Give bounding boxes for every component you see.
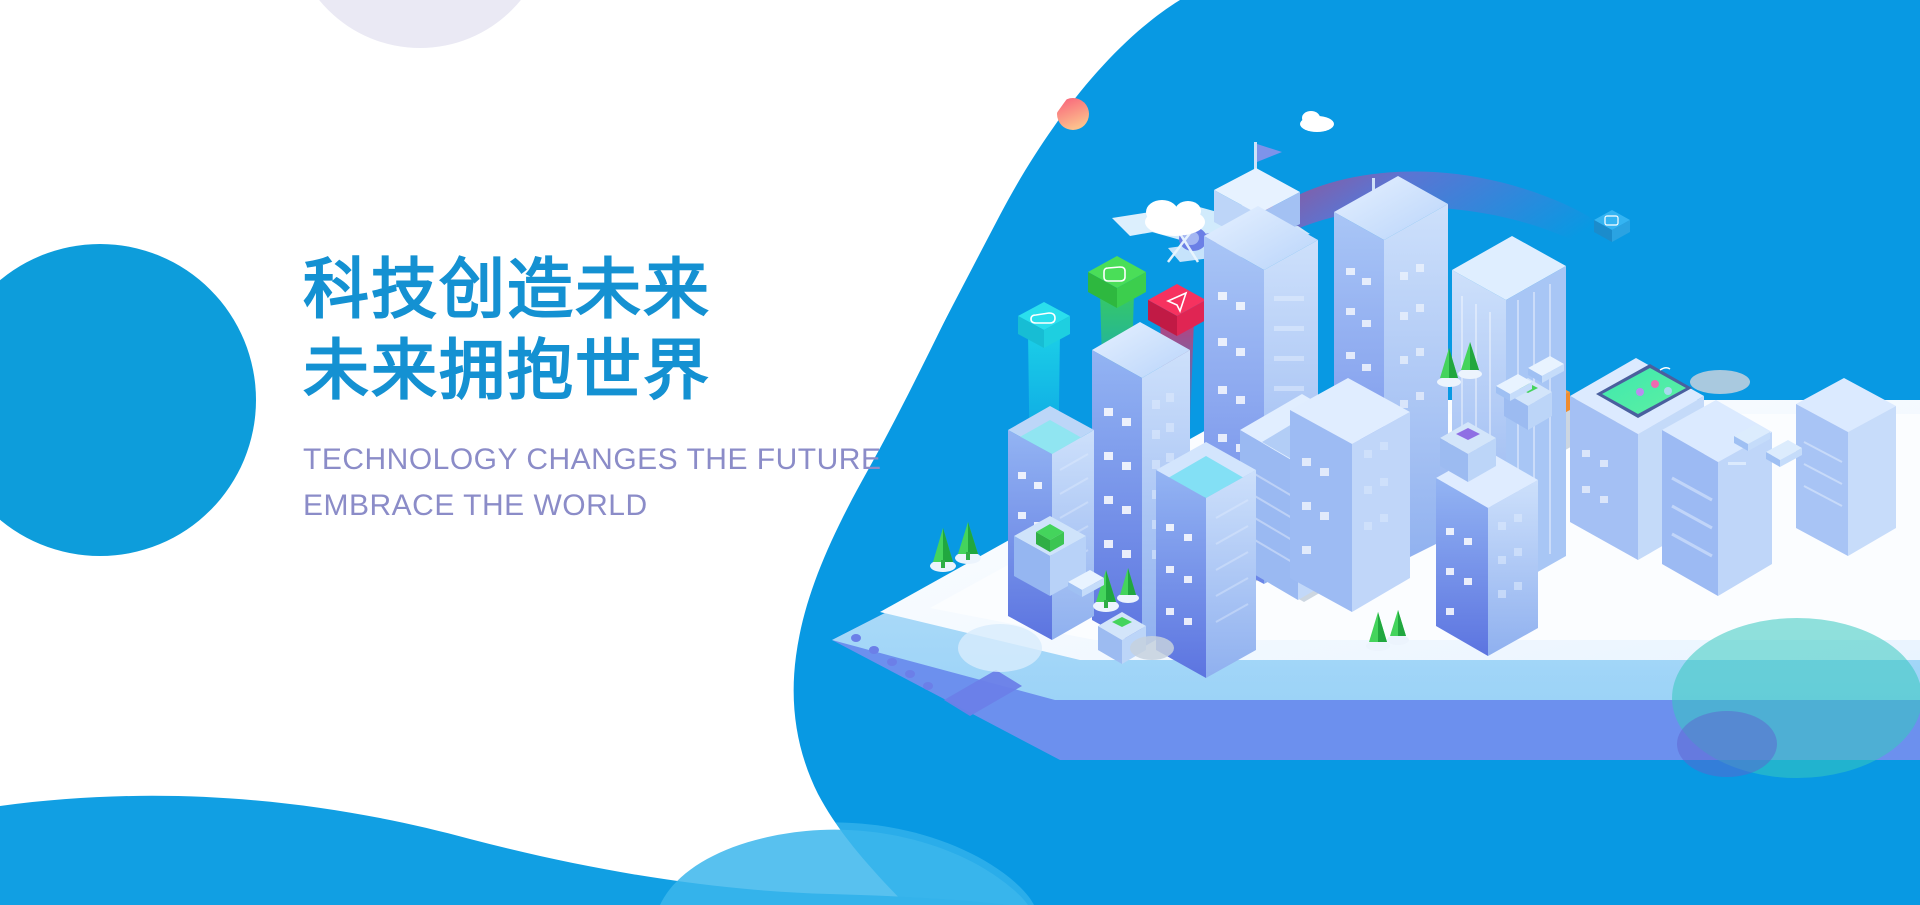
headline-line-2: 未来拥抱世界 <box>303 331 923 412</box>
banner-root: 科技创造未来 未来拥抱世界 TECHNOLOGY CHANGES THE FUT… <box>0 0 1920 905</box>
headline-line-1: 科技创造未来 <box>303 250 923 331</box>
text-block: 科技创造未来 未来拥抱世界 TECHNOLOGY CHANGES THE FUT… <box>303 250 923 528</box>
cloud-large-icon <box>1145 200 1205 236</box>
blob-purple <box>1677 711 1777 777</box>
subtitle-line-2: EMBRACE THE WORLD <box>303 483 923 529</box>
building-front-right <box>1290 378 1410 612</box>
scene-illustration <box>0 0 1920 905</box>
phone-highlight <box>958 624 1042 672</box>
subtitle-line-1: TECHNOLOGY CHANGES THE FUTURE <box>303 437 923 483</box>
building-right-grid <box>1436 450 1538 656</box>
building-edge-right <box>1796 378 1896 556</box>
